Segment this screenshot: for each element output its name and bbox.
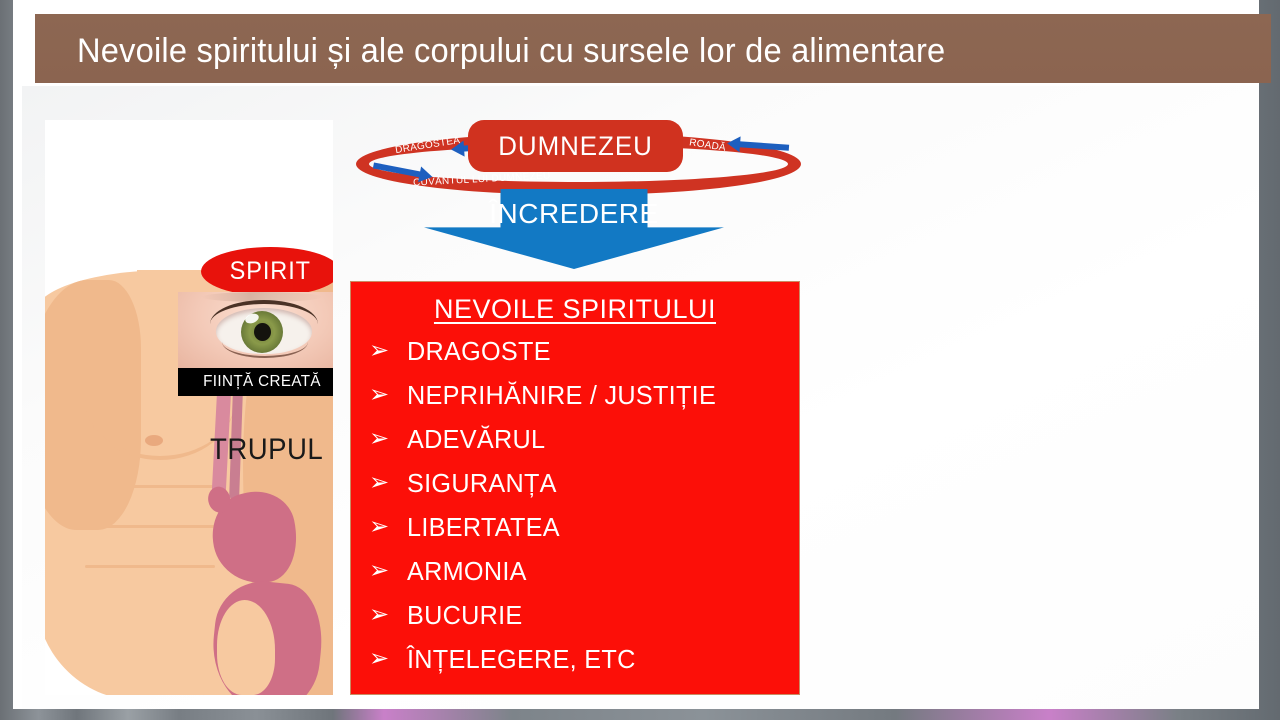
torso-nipple [145,435,163,446]
bullet-arrow-icon: ➢ [369,427,407,451]
spiritual-needs-box: NEVOILE SPIRITULUI ➢DRAGOSTE➢NEPRIHĂNIRE… [350,281,800,695]
body-label: TRUPUL [210,433,323,467]
torso-ab-line [85,525,215,528]
bullet-arrow-icon: ➢ [369,339,407,363]
list-item: ➢ÎNȚELEGERE, ETC [351,637,799,681]
torso-ab-line [85,565,215,568]
torso-ab-line [85,485,215,488]
god-cycle-diagram: DRAGOSTEA ROADĂ CUVÂNTUL LUI DUMNEZEU DU… [351,115,811,200]
human-eye-photo [178,292,333,370]
created-being-caption-bar: FIINȚĂ CREATĂ [178,368,333,396]
list-item-label: SIGURANȚA [407,468,557,499]
list-item-label: ADEVĂRUL [407,424,545,455]
presentation-slide: Nevoile spiritului și ale corpului cu su… [13,0,1259,709]
list-item: ➢ARMONIA [351,549,799,593]
spirit-label: SPIRIT [230,257,311,286]
list-item: ➢DRAGOSTE [351,329,799,373]
list-item: ➢BUCURIE [351,593,799,637]
created-being-label: FIINȚĂ CREATĂ [204,373,322,391]
list-item-label: LIBERTATEA [407,512,560,543]
list-item: ➢ADEVĂRUL [351,417,799,461]
bullet-arrow-icon: ➢ [369,383,407,407]
bullet-arrow-icon: ➢ [369,515,407,539]
stomach-organ-inner [217,600,275,695]
trust-arrow: ÎNCREDERE [424,189,724,269]
spirit-badge: SPIRIT [201,247,333,296]
spiritual-needs-title-text: NEVOILE SPIRITULUI [434,294,716,324]
bullet-arrow-icon: ➢ [369,647,407,671]
list-item: ➢NEPRIHĂNIRE / JUSTIȚIE [351,373,799,417]
trust-arrow-label: ÎNCREDERE [424,198,724,230]
page-title: Nevoile spiritului și ale corpului cu su… [77,32,945,71]
spiritual-needs-title: NEVOILE SPIRITULUI [351,294,799,325]
slide-title-bar: Nevoile spiritului și ale corpului cu su… [35,14,1271,83]
list-item-label: BUCURIE [407,600,523,631]
dumnezeu-label: DUMNEZEU [498,131,653,162]
list-item-label: NEPRIHĂNIRE / JUSTIȚIE [407,380,716,411]
list-item: ➢SIGURANȚA [351,461,799,505]
eye-pupil [254,323,271,341]
bullet-arrow-icon: ➢ [369,471,407,495]
spiritual-needs-list: ➢DRAGOSTE➢NEPRIHĂNIRE / JUSTIȚIE➢ADEVĂRU… [351,329,799,681]
list-item-label: ÎNȚELEGERE, ETC [407,644,636,675]
bullet-arrow-icon: ➢ [369,559,407,583]
list-item-label: ARMONIA [407,556,527,587]
bullet-arrow-icon: ➢ [369,603,407,627]
left-illustration-panel: TRUPUL SPIRIT FIINȚĂ CREATĂ [45,120,333,695]
dumnezeu-badge: DUMNEZEU [468,120,683,172]
list-item-label: DRAGOSTE [407,336,551,367]
list-item: ➢LIBERTATEA [351,505,799,549]
